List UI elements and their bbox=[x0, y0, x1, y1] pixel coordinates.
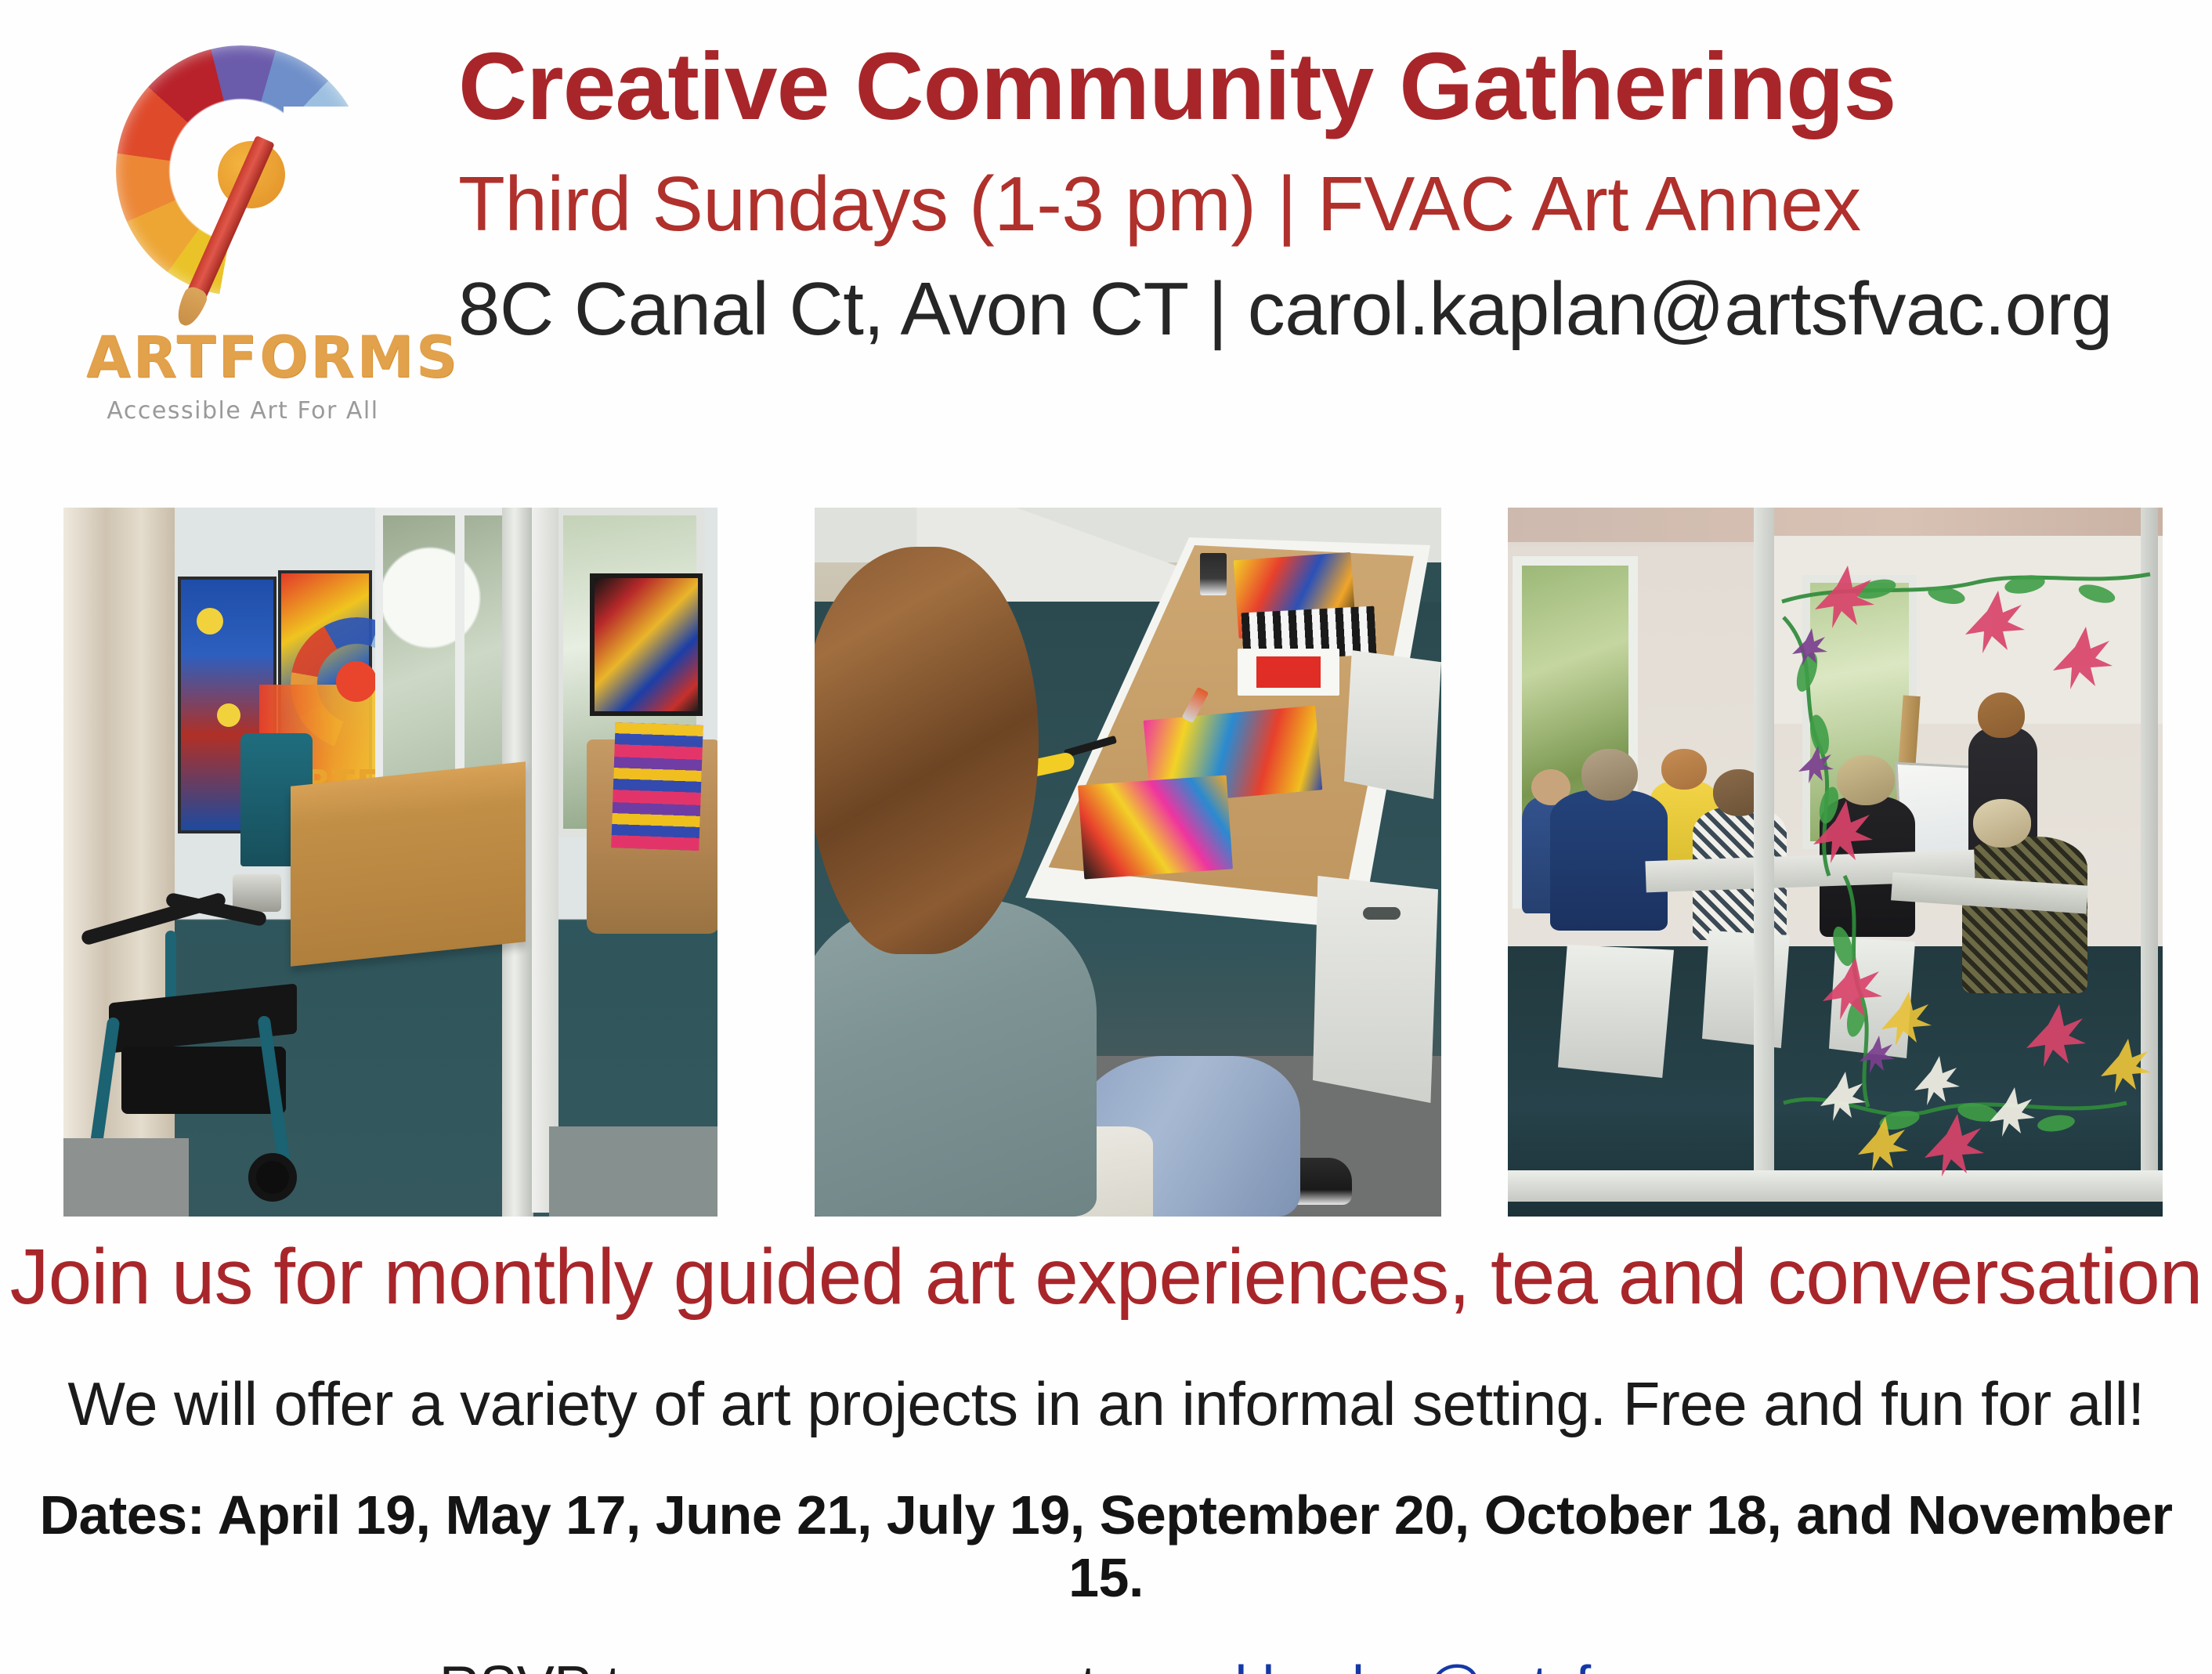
studio-room-photo: ARTFORMS bbox=[63, 508, 717, 1217]
art-class-window-photo bbox=[1508, 508, 2163, 1217]
photo-strip: ARTFORMS bbox=[63, 508, 2163, 1217]
color-wheel-gap bbox=[284, 107, 378, 155]
rsvp-email-link[interactable]: carol.kaplan@artsfvac.org bbox=[1126, 1655, 1773, 1674]
rsvp-prefix-label: RSVP to reserve your spot: bbox=[439, 1655, 1127, 1674]
logo-tagline: Accessible Art For All bbox=[86, 397, 399, 425]
dates-line: Dates: April 19, May 17, June 21, July 1… bbox=[0, 1484, 2212, 1609]
header-text-block: Creative Community Gatherings Third Sund… bbox=[458, 33, 2166, 353]
flyer-body-text: Join us for monthly guided art experienc… bbox=[0, 1234, 2212, 1674]
rsvp-line: RSVP to reserve your spot: carol.kaplan@… bbox=[0, 1654, 2212, 1674]
description-line: We will offer a variety of art projects … bbox=[0, 1368, 2212, 1440]
flyer-header: ARTFORMS Accessible Art For All Creative… bbox=[0, 0, 2212, 470]
page-title: Creative Community Gatherings bbox=[458, 33, 2166, 140]
tagline: Join us for monthly guided art experienc… bbox=[0, 1234, 2212, 1320]
schedule-subtitle: Third Sundays (1-3 pm) | FVAC Art Annex bbox=[458, 161, 2166, 248]
artforms-logo: ARTFORMS Accessible Art For All bbox=[86, 31, 399, 447]
flyer-page: ARTFORMS Accessible Art For All Creative… bbox=[0, 0, 2212, 1674]
artforms-color-wheel-logo-icon bbox=[102, 31, 384, 321]
logo-wordmark: ARTFORMS bbox=[86, 324, 399, 391]
collage-table-photo bbox=[815, 508, 1441, 1217]
address-contact-line: 8C Canal Ct, Avon CT | carol.kaplan@arts… bbox=[458, 266, 2166, 352]
